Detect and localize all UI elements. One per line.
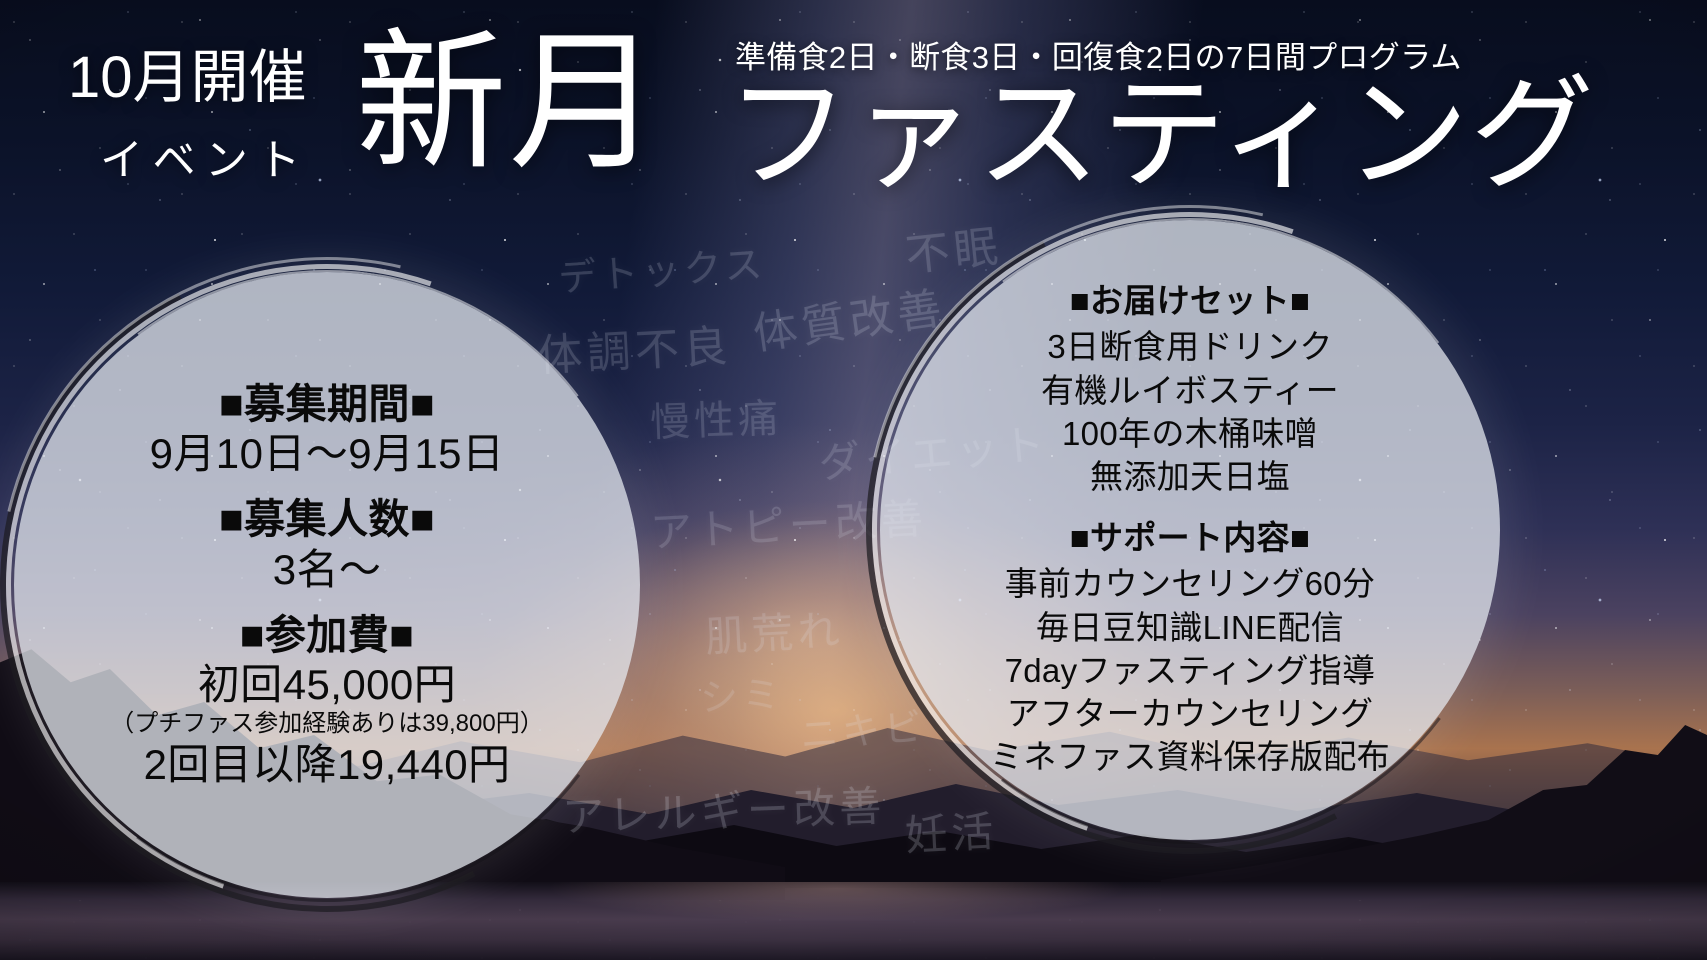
list-item: 100年の木桶味噌 (1041, 414, 1339, 454)
list-item: ミネファス資料保存版配布 (990, 737, 1390, 777)
program-subtitle: 準備食2日・断食3日・回復食2日の7日間プログラム (735, 32, 1462, 77)
package-details-panel: ■お届けセット■ 3日断食用ドリンク有機ルイボスティー100年の木桶味噌無添加天… (880, 220, 1500, 840)
fee-repeat-value: 2回目以降19,440円 (144, 739, 511, 790)
support-content-heading: ■サポート内容■ (1070, 519, 1311, 558)
fee-discount-note: （プチファス参加経験ありは39,800円） (110, 710, 543, 739)
info-circle-right: ■お届けセット■ 3日断食用ドリンク有機ルイボスティー100年の木桶味噌無添加天… (880, 220, 1500, 840)
list-item: 7dayファスティング指導 (990, 651, 1390, 691)
fee-first-time-value: 初回45,000円 (198, 659, 456, 710)
recruitment-period-value: 9月10日〜9月15日 (150, 428, 505, 479)
recruitment-details-panel: ■募集期間■ 9月10日〜9月15日 ■募集人数■ 3名〜 ■参加費■ 初回45… (14, 272, 640, 898)
list-item: アフターカウンセリング (990, 694, 1390, 734)
kicker-event-label: イベント (100, 126, 310, 188)
recruitment-capacity-value: 3名〜 (273, 544, 382, 595)
list-item: 有機ルイボスティー (1041, 371, 1339, 411)
list-item: 事前カウンセリング60分 (990, 564, 1390, 604)
delivery-set-heading: ■お届けセット■ (1070, 282, 1311, 321)
recruitment-period-heading: ■募集期間■ (219, 380, 435, 428)
kicker-month: 10月開催 (68, 30, 307, 114)
info-circle-left: ■募集期間■ 9月10日〜9月15日 ■募集人数■ 3名〜 ■参加費■ 初回45… (14, 272, 640, 898)
page-title-main: 新月 (355, 28, 662, 180)
list-item: 毎日豆知識LINE配信 (990, 608, 1390, 648)
page-title-sub: ファスティング (726, 74, 1595, 198)
support-content-list: 事前カウンセリング60分毎日豆知識LINE配信7dayファスティング指導アフター… (990, 561, 1390, 780)
list-item: 3日断食用ドリンク (1041, 327, 1339, 367)
poster-canvas: デトックス不眠体質改善体調不良慢性痛ダイエットアトピー改善肌荒れシミニキビアレル… (0, 0, 1707, 960)
list-item: 無添加天日塩 (1041, 457, 1339, 497)
recruitment-capacity-heading: ■募集人数■ (219, 495, 435, 543)
delivery-set-list: 3日断食用ドリンク有機ルイボスティー100年の木桶味噌無添加天日塩 (1041, 324, 1339, 500)
fee-heading: ■参加費■ (240, 611, 415, 659)
